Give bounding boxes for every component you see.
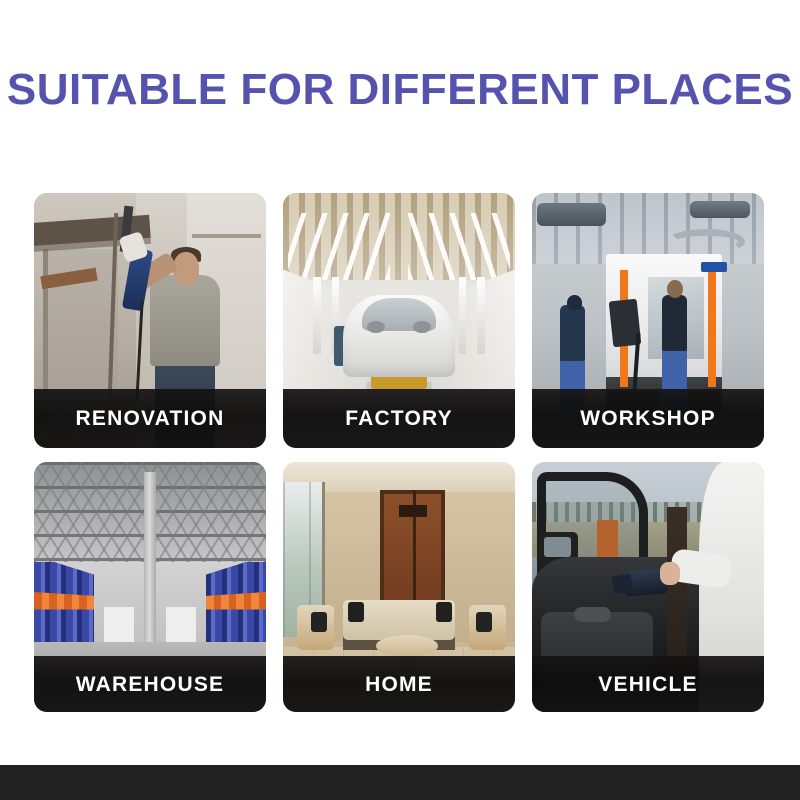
workshop-pipe	[667, 229, 746, 255]
place-card-label: RENOVATION	[76, 408, 225, 429]
warehouse-support-column	[144, 472, 156, 642]
place-card-vehicle[interactable]: VEHICLE	[532, 462, 764, 712]
home-armchair-left-cushion	[311, 612, 327, 632]
factory-label-band: FACTORY	[283, 389, 515, 448]
place-card-workshop[interactable]: WORKSHOP	[532, 193, 764, 448]
place-card-renovation[interactable]: RENOVATION	[34, 193, 266, 448]
renovation-worker-head	[173, 252, 199, 285]
warehouse-dock-door-right	[166, 607, 196, 642]
workshop-worker-right-torso	[662, 295, 688, 351]
vehicle-side-mirror-glass	[544, 537, 572, 557]
vehicle-door-handle	[574, 607, 611, 622]
workshop-worker-left-head	[567, 295, 582, 310]
workshop-duct-secondary	[690, 201, 750, 219]
workshop-machine-trim-right	[708, 270, 716, 387]
factory-post	[313, 277, 320, 354]
bottom-bar	[0, 765, 800, 800]
place-card-label: WAREHOUSE	[76, 674, 224, 695]
renovation-worker-torso	[150, 275, 220, 367]
home-armchair-right-cushion	[476, 612, 492, 632]
factory-car-headlight-left	[367, 321, 386, 334]
warehouse-label-band: WAREHOUSE	[34, 656, 266, 712]
suitable-places-page: SUITABLE FOR DIFFERENT PLACES	[0, 0, 800, 800]
place-card-factory[interactable]: FACTORY	[283, 193, 515, 448]
place-card-home[interactable]: HOME	[283, 462, 515, 712]
workshop-worker-left-torso	[560, 305, 586, 361]
vehicle-vacuum-nozzle	[612, 573, 633, 593]
renovation-tool-cable	[136, 300, 144, 402]
workshop-duct	[537, 203, 607, 226]
home-sofa-pillow-right	[436, 602, 452, 622]
vehicle-interior-trim	[597, 520, 618, 560]
factory-post	[477, 277, 484, 354]
renovation-rail	[192, 234, 262, 238]
workshop-machine-logo	[701, 262, 727, 272]
factory-ceiling-lights-right	[408, 213, 510, 279]
renovation-label-band: RENOVATION	[34, 389, 266, 448]
vehicle-label-band: VEHICLE	[532, 656, 764, 712]
place-card-label: VEHICLE	[598, 674, 697, 695]
warehouse-dock-door-left	[104, 607, 134, 642]
home-label-band: HOME	[283, 656, 515, 712]
page-title: SUITABLE FOR DIFFERENT PLACES	[0, 68, 800, 112]
home-sofa-pillow-left	[348, 602, 364, 622]
places-card-grid: RENOVATION	[34, 193, 765, 712]
vehicle-person-hand	[660, 562, 681, 585]
workshop-worker-right-head	[667, 280, 683, 298]
factory-ceiling-lights-left	[288, 213, 390, 279]
home-door-shelf	[399, 505, 427, 518]
workshop-label-band: WORKSHOP	[532, 389, 764, 448]
place-card-warehouse[interactable]: WAREHOUSE	[34, 462, 266, 712]
factory-post	[459, 277, 466, 354]
place-card-label: HOME	[365, 674, 433, 695]
place-card-label: FACTORY	[345, 408, 453, 429]
place-card-label: WORKSHOP	[580, 408, 716, 429]
home-coffee-table	[376, 635, 439, 658]
